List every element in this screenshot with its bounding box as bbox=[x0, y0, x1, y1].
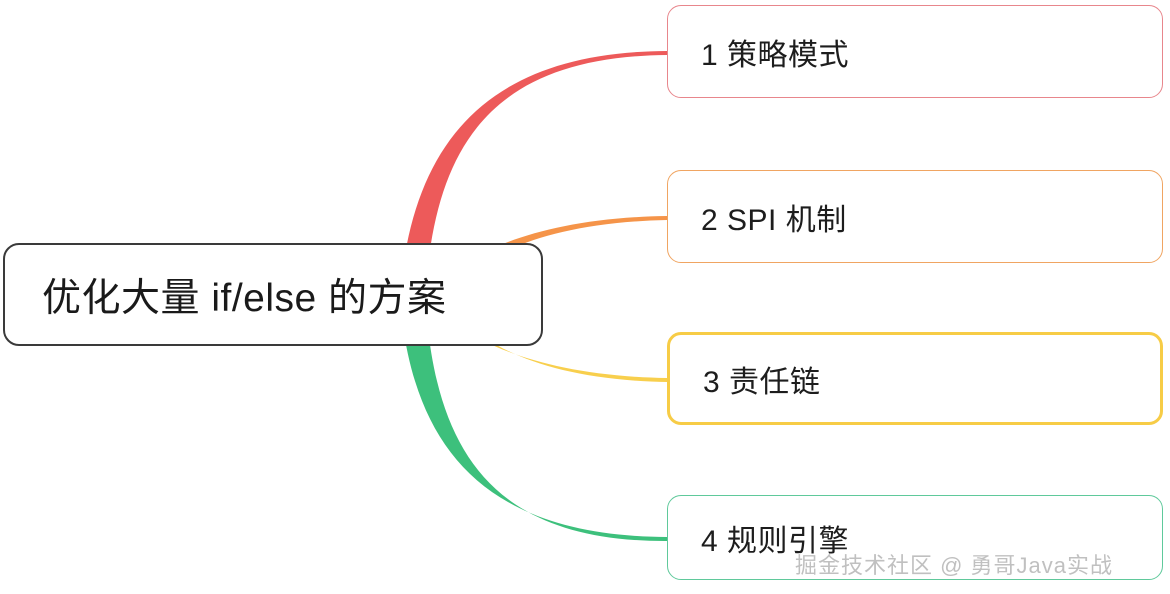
branch-node-chain-of-responsibility[interactable]: 3 责任链 bbox=[667, 332, 1163, 425]
mind-map-canvas: 优化大量 if/else 的方案 1 策略模式 2 SPI 机制 3 责任链 4… bbox=[0, 0, 1170, 594]
branch-node-label: 1 策略模式 bbox=[701, 30, 849, 74]
root-node-label: 优化大量 if/else 的方案 bbox=[42, 267, 447, 323]
watermark: 掘金技术社区 @ 勇哥Java实战 bbox=[795, 548, 1113, 580]
branch-node-strategy-pattern[interactable]: 1 策略模式 bbox=[667, 5, 1163, 98]
branch-node-spi-mechanism[interactable]: 2 SPI 机制 bbox=[667, 170, 1163, 263]
branch-node-label: 2 SPI 机制 bbox=[701, 195, 847, 239]
branch-node-label: 3 责任链 bbox=[703, 357, 821, 401]
root-node[interactable]: 优化大量 if/else 的方案 bbox=[3, 243, 543, 346]
